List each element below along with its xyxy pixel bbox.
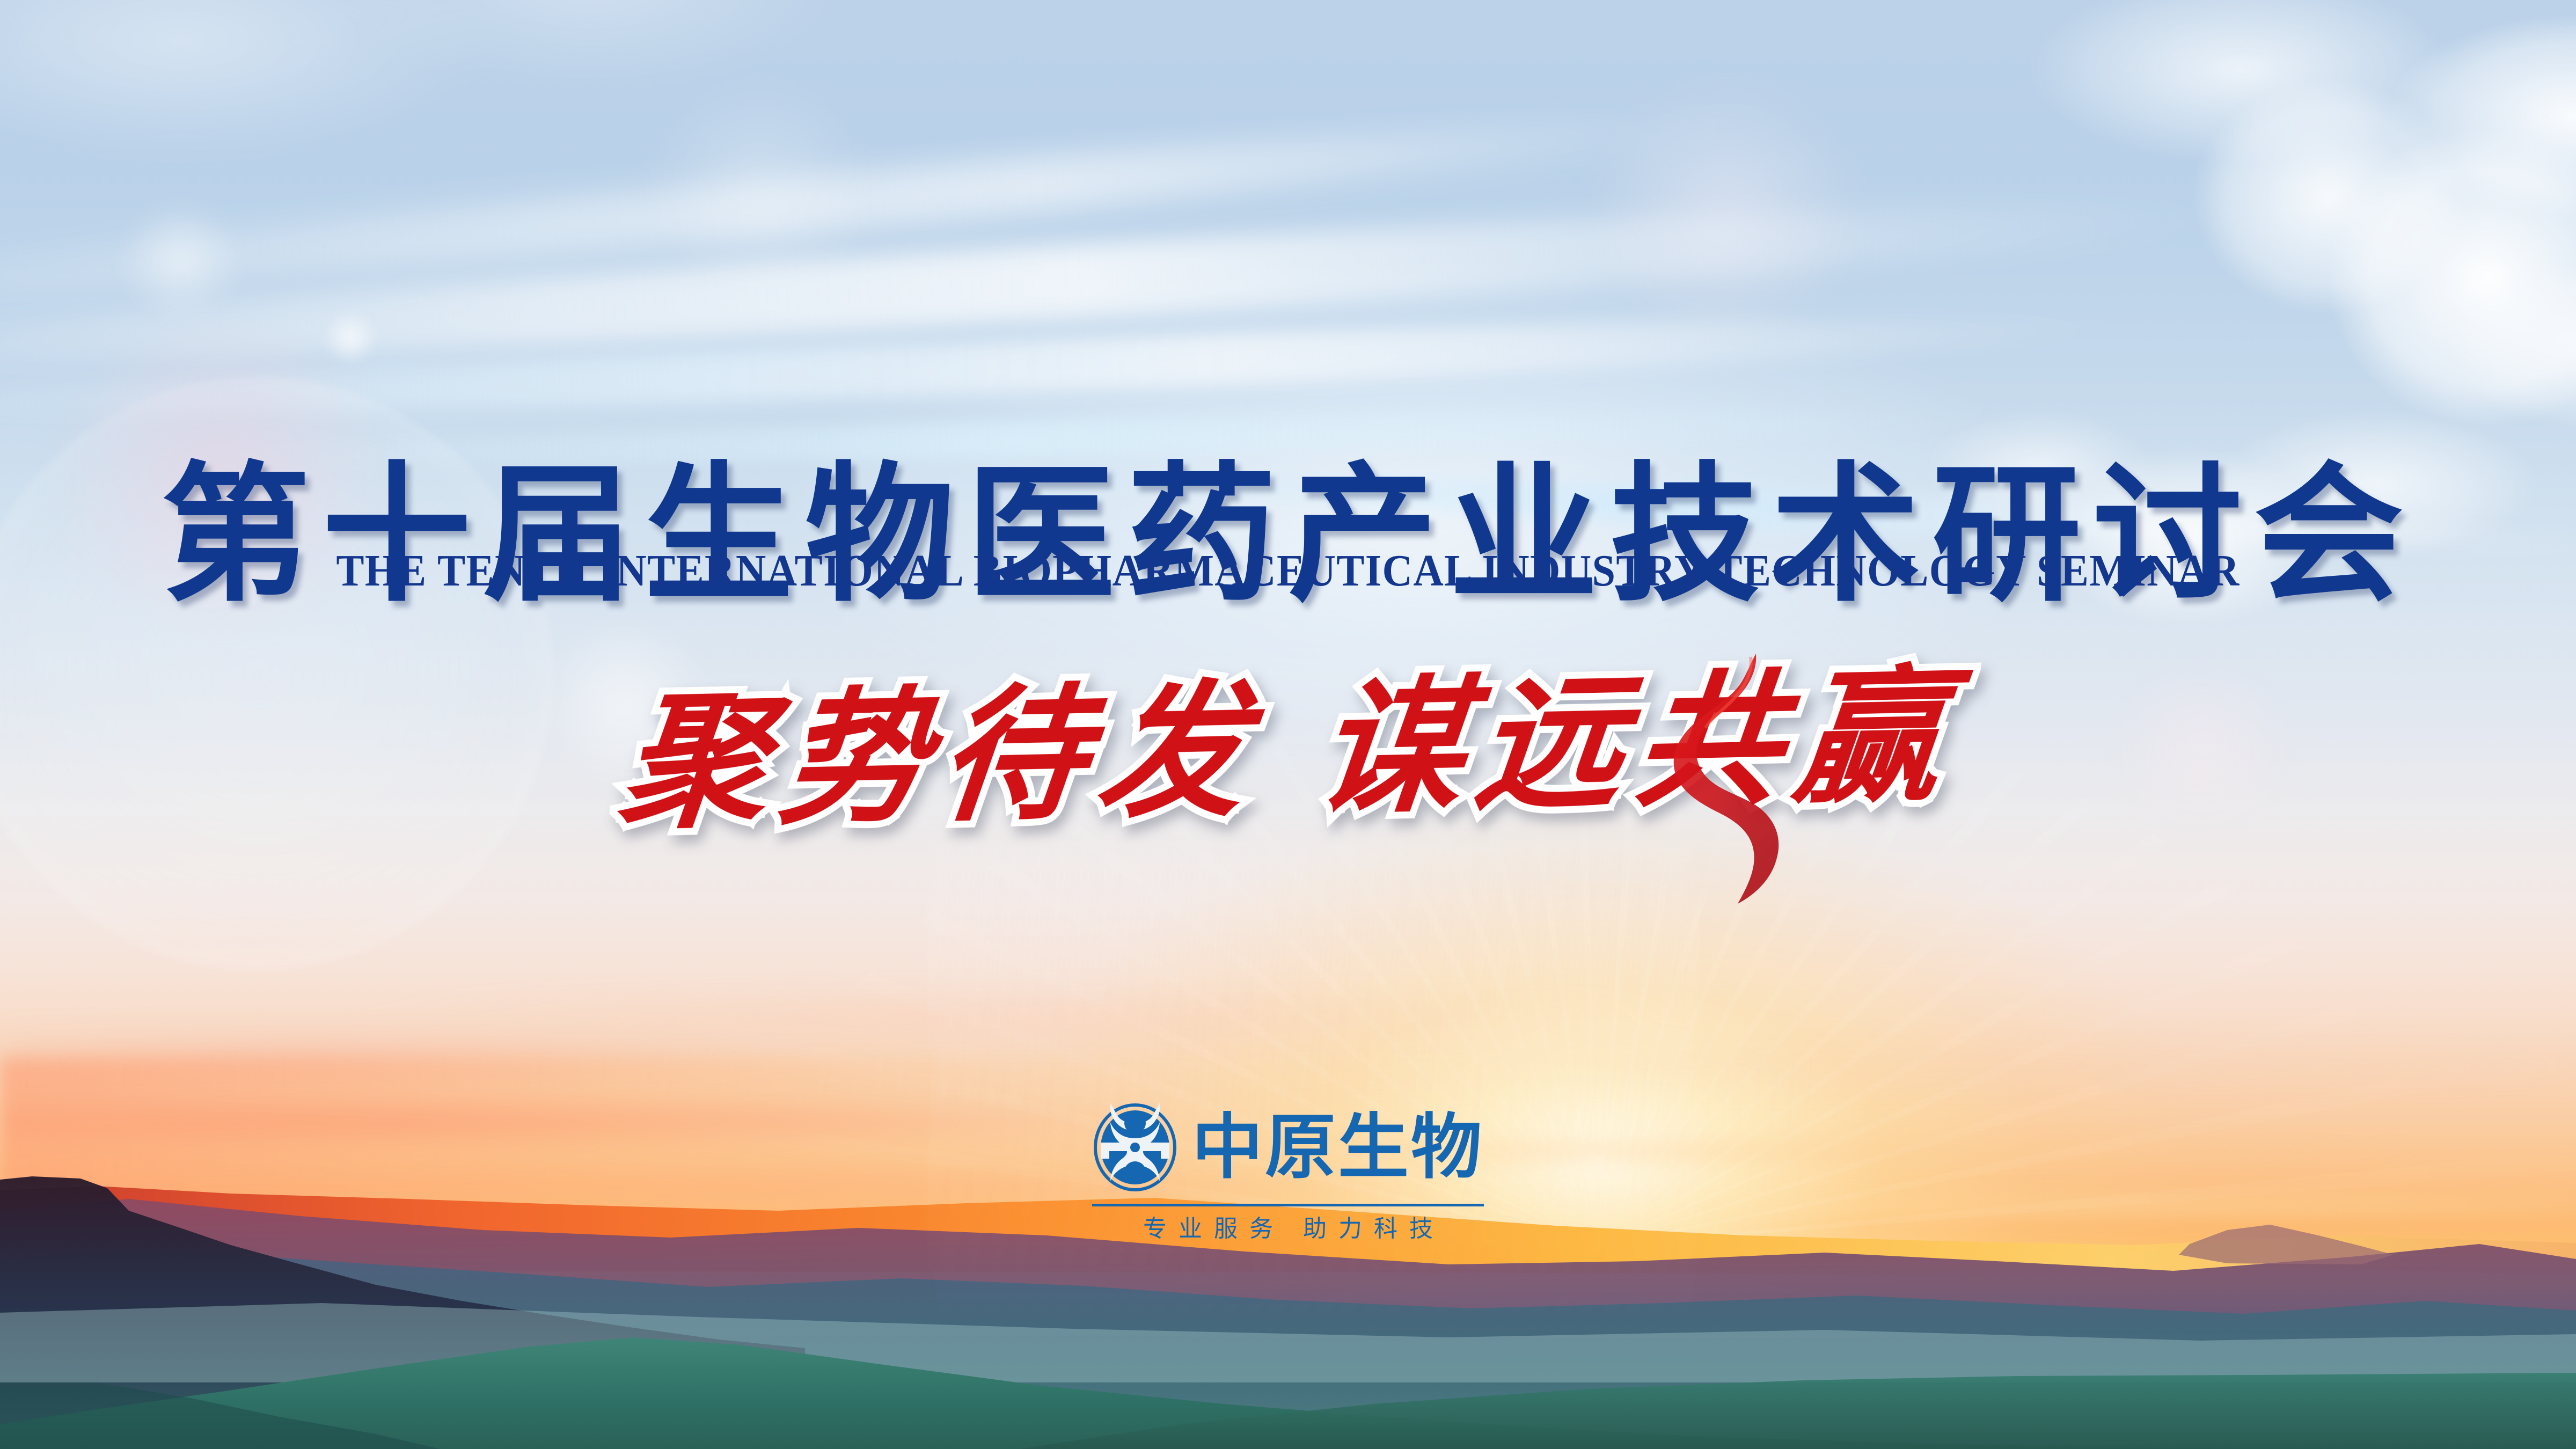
company-logo: 中原生物 专业服务助力科技 [1092,1103,1484,1241]
calligraphy-phrase-2: 谋远共赢 [1309,656,1963,831]
logo-row: 中原生物 [1092,1103,1484,1192]
logo-divider [1092,1204,1484,1206]
english-subtitle: THE TENTH INTERNATIONAL BIOPHARMACEUTICA… [90,548,2486,594]
logo-tagline-1: 专业服务 [1143,1216,1285,1242]
calligraphy-phrase-1: 聚势待发 [613,671,1267,846]
calligraphy-slogan: 聚势待发谋远共赢 [613,652,1964,852]
calligraphy-gap [1254,800,1313,801]
logo-tagline-2: 助力科技 [1303,1216,1445,1242]
logo-wordmark: 中原生物 [1192,1112,1484,1183]
calligraphy-block: 聚势待发谋远共赢 [0,665,2576,838]
dna-helix-emblem-icon [1092,1103,1178,1192]
logo-tagline: 专业服务助力科技 [1131,1217,1445,1241]
poster-canvas: 第十届生物医药产业技术研讨会 THE TENTH INTERNATIONAL B… [0,0,2576,1449]
